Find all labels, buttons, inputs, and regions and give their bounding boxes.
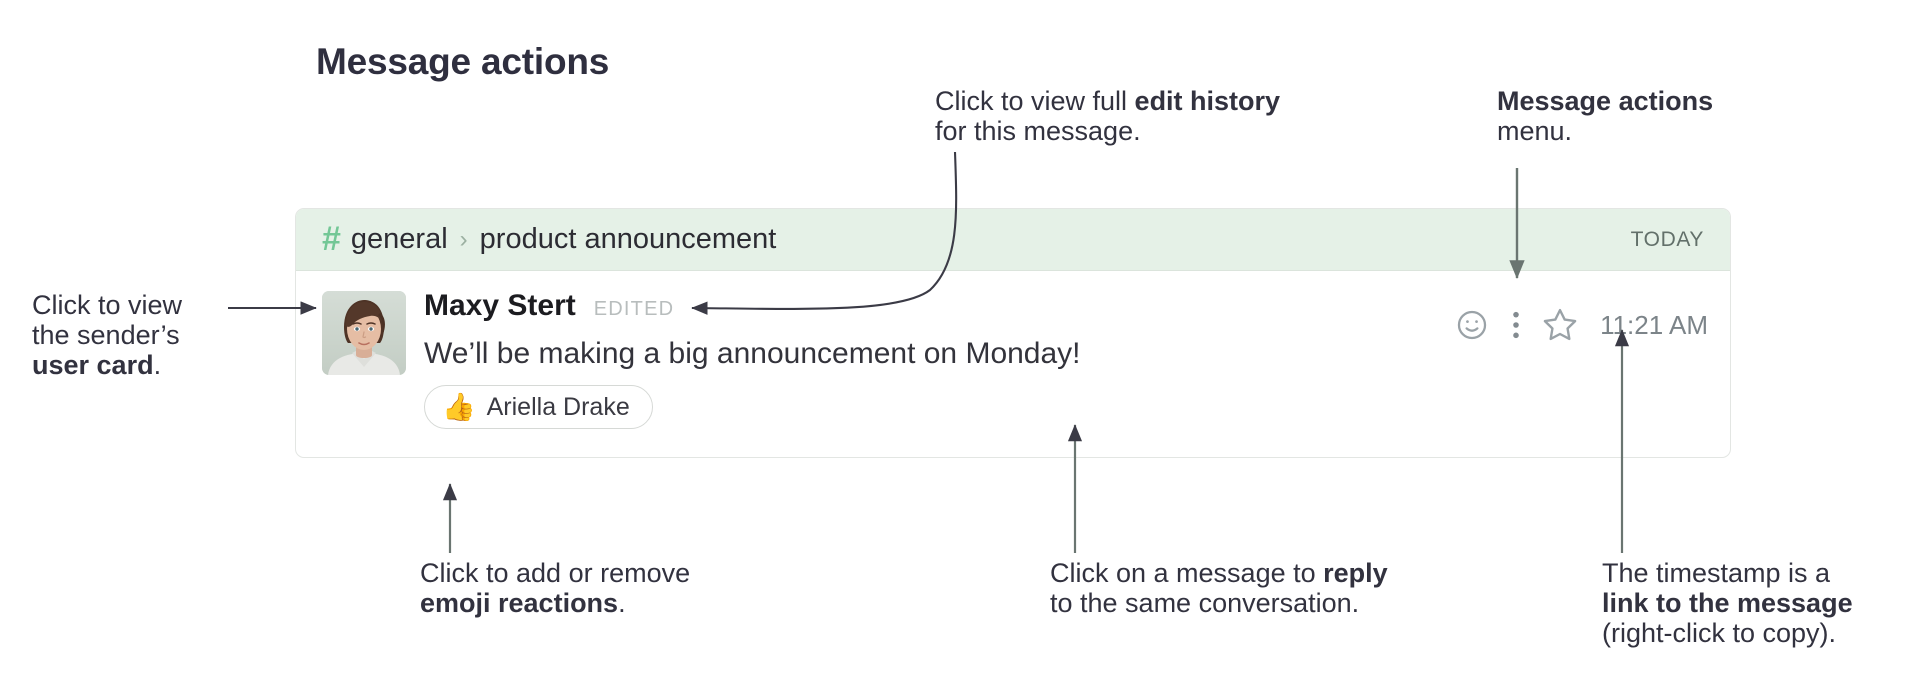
recipient-bar[interactable]: # general › product announcement TODAY bbox=[296, 209, 1730, 271]
hash-icon: # bbox=[322, 222, 341, 256]
annotation-reply-line1-pre: Click on a message to bbox=[1050, 558, 1323, 588]
annotation-edit-history-line2: for this message. bbox=[935, 116, 1141, 146]
annotation-timestamp: The timestamp is a link to the message (… bbox=[1602, 558, 1912, 649]
annotation-emoji-line1: Click to add or remove bbox=[420, 558, 690, 588]
reaction-user-name: Ariella Drake bbox=[487, 393, 630, 422]
screenshot-root: Message actions # general › product anno… bbox=[0, 0, 1924, 696]
annotation-emoji-period: . bbox=[618, 588, 626, 618]
message-timestamp-link[interactable]: 11:21 AM bbox=[1600, 310, 1708, 341]
message-row[interactable]: Maxy Stert EDITED We’ll be making a big … bbox=[296, 271, 1730, 429]
stream-name-link[interactable]: general bbox=[351, 223, 448, 256]
recipient-date-label[interactable]: TODAY bbox=[1631, 228, 1704, 252]
annotation-emoji-reactions: Click to add or remove emoji reactions. bbox=[420, 558, 750, 618]
annotation-timestamp-line3: (right-click to copy). bbox=[1602, 618, 1836, 648]
message-actions-menu-icon[interactable] bbox=[1494, 303, 1538, 347]
annotation-message-actions-line2: menu. bbox=[1497, 116, 1572, 146]
sender-name[interactable]: Maxy Stert bbox=[424, 289, 576, 323]
annotation-edit-history: Click to view full edit history for this… bbox=[935, 86, 1355, 146]
emoji-reaction-pill[interactable]: 👍 Ariella Drake bbox=[424, 385, 653, 429]
annotation-timestamp-line1: The timestamp is a bbox=[1602, 558, 1830, 588]
annotation-reply: Click on a message to reply to the same … bbox=[1050, 558, 1450, 618]
thumbs-up-icon: 👍 bbox=[442, 394, 476, 421]
message-card: # general › product announcement TODAY bbox=[295, 208, 1731, 458]
annotation-user-card-period: . bbox=[154, 350, 162, 380]
annotation-edit-history-bold: edit history bbox=[1135, 86, 1281, 116]
annotation-reply-line2: to the same conversation. bbox=[1050, 588, 1359, 618]
annotation-message-actions: Message actions menu. bbox=[1497, 86, 1797, 146]
reaction-row: 👍 Ariella Drake bbox=[424, 385, 1708, 429]
chevron-right-icon: › bbox=[460, 226, 468, 254]
annotation-timestamp-bold: link to the message bbox=[1602, 588, 1853, 618]
annotation-user-card: Click to view the sender’s user card. bbox=[32, 290, 262, 381]
page-title: Message actions bbox=[316, 41, 609, 83]
annotation-user-card-line1: Click to view bbox=[32, 290, 182, 320]
annotation-emoji-bold: emoji reactions bbox=[420, 588, 618, 618]
topic-name-link[interactable]: product announcement bbox=[480, 223, 777, 256]
emoji-reaction-icon[interactable] bbox=[1450, 303, 1494, 347]
avatar[interactable] bbox=[322, 291, 406, 375]
annotation-message-actions-bold: Message actions bbox=[1497, 86, 1713, 116]
annotation-edit-history-line1-pre: Click to view full bbox=[935, 86, 1135, 116]
annotation-reply-bold: reply bbox=[1323, 558, 1388, 588]
message-controls: 11:21 AM bbox=[1450, 303, 1708, 347]
annotation-user-card-line2: the sender’s bbox=[32, 320, 180, 350]
edited-label[interactable]: EDITED bbox=[594, 298, 675, 321]
star-icon[interactable] bbox=[1538, 303, 1582, 347]
annotation-user-card-bold: user card bbox=[32, 350, 154, 380]
